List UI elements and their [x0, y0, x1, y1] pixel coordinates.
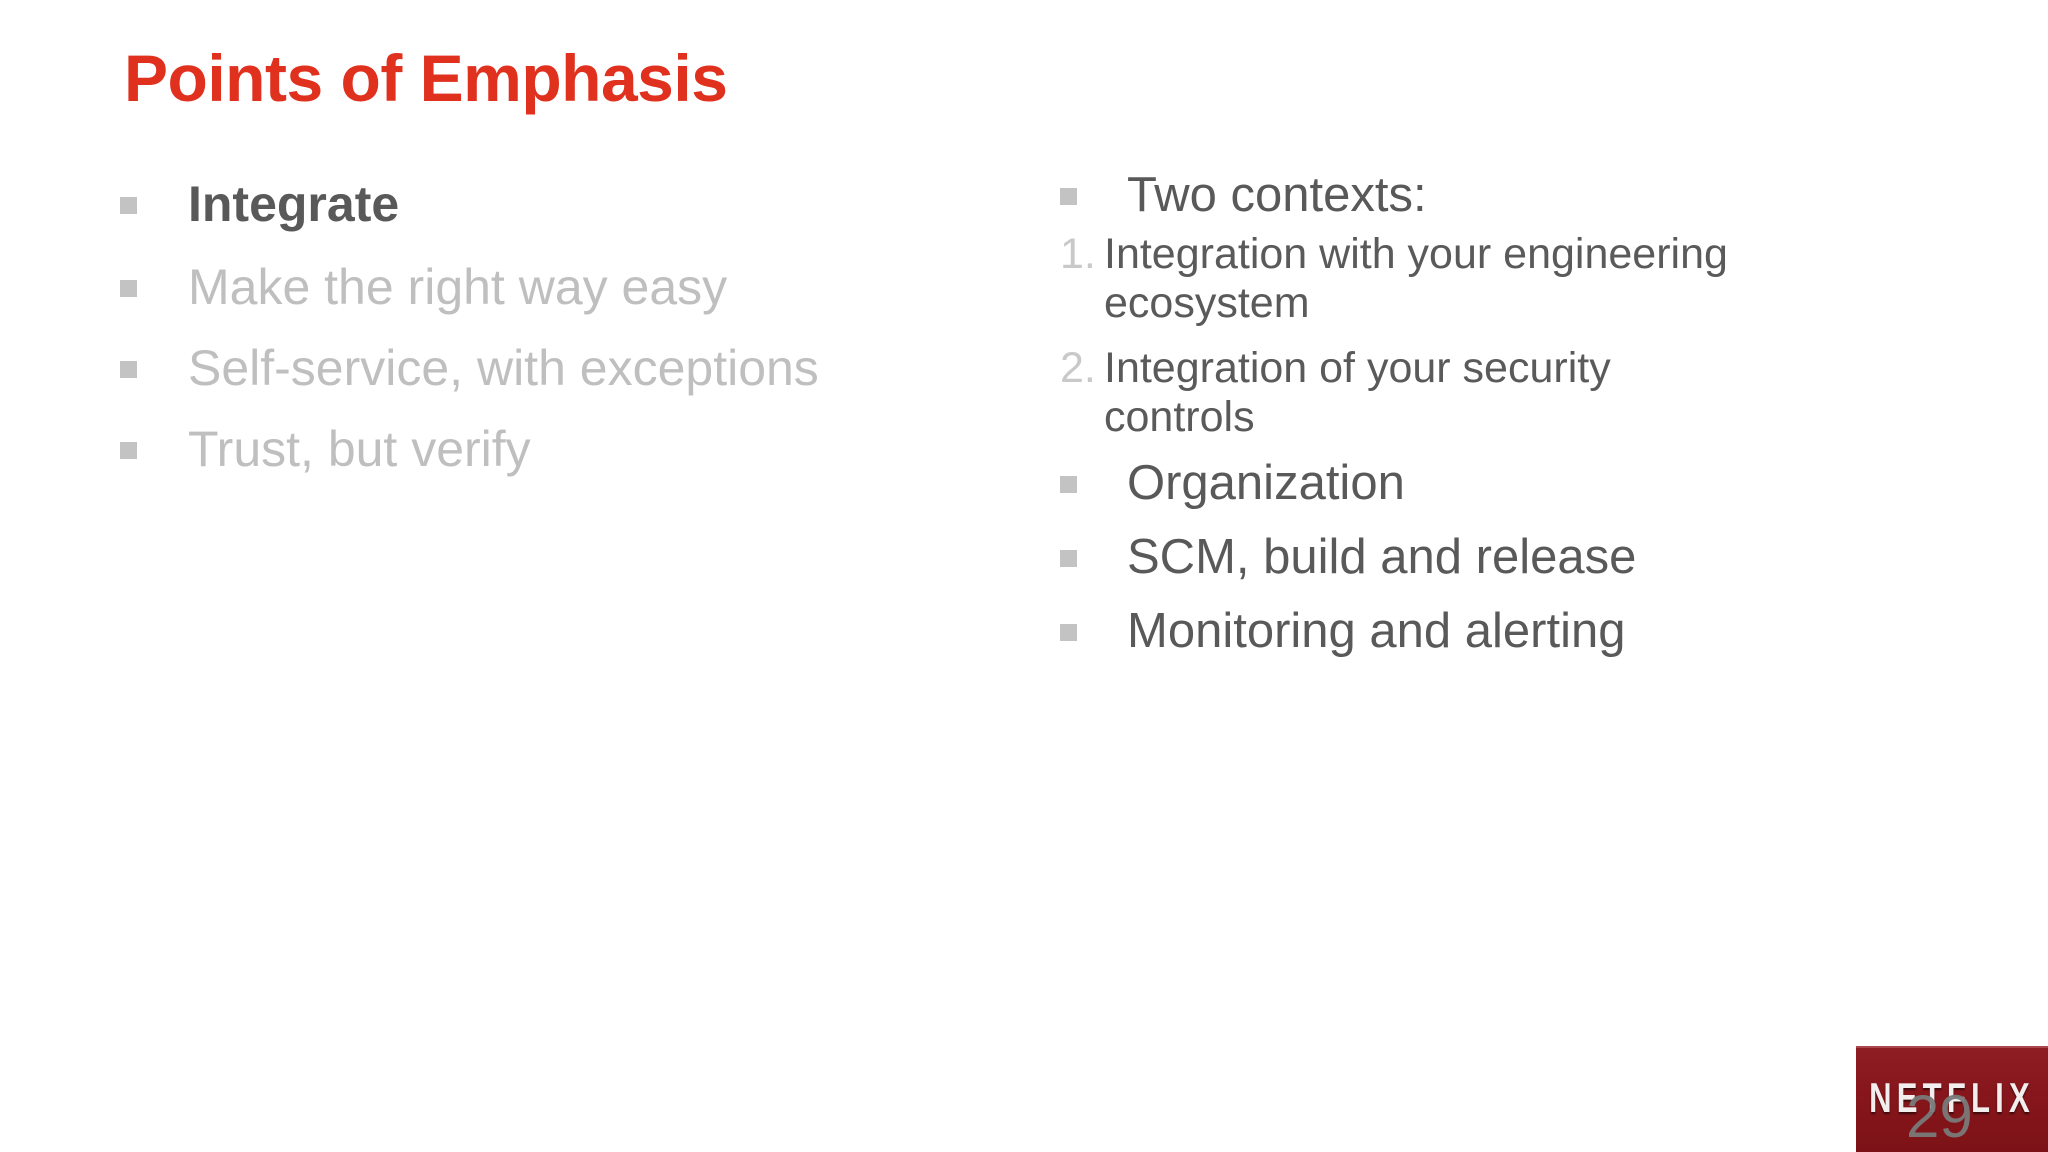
square-bullet-icon — [120, 442, 137, 459]
list-item: 2. Integration of your security controls — [1060, 344, 1980, 442]
list-number-2: 2. — [1060, 344, 1104, 393]
bullet-label-two-contexts: Two contexts: — [1127, 168, 1980, 224]
list-item: Make the right way easy — [120, 259, 980, 316]
bullet-label-scm-build-and-release: SCM, build and release — [1127, 530, 1980, 586]
bullet-label-self-service-with-exceptions: Self-service, with exceptions — [188, 340, 980, 397]
page-number: 29 — [1906, 1082, 1973, 1151]
list-item: Self-service, with exceptions — [120, 340, 980, 397]
list-item: Integrate — [120, 176, 980, 233]
square-bullet-icon — [1060, 188, 1077, 205]
list-item: Monitoring and alerting — [1060, 604, 1980, 660]
numbered-sub-list: 1. Integration with your engineering eco… — [1060, 230, 1980, 442]
square-bullet-icon — [120, 280, 137, 297]
right-bullet-column: Two contexts: 1. Integration with your e… — [1060, 168, 1980, 660]
page-title: Points of Emphasis — [124, 40, 727, 116]
sub-label-integration-security-controls: Integration of your security controls — [1104, 344, 1744, 442]
square-bullet-icon — [1060, 550, 1077, 567]
bullet-label-organization: Organization — [1127, 456, 1980, 512]
square-bullet-icon — [120, 197, 137, 214]
list-item: 1. Integration with your engineering eco… — [1060, 230, 1980, 328]
square-bullet-icon — [1060, 476, 1077, 493]
bullet-label-trust-but-verify: Trust, but verify — [188, 421, 980, 478]
list-number-1: 1. — [1060, 230, 1104, 279]
square-bullet-icon — [1060, 624, 1077, 641]
sub-label-integration-engineering-ecosystem: Integration with your engineering ecosys… — [1104, 230, 1744, 328]
list-item: Two contexts: — [1060, 168, 1980, 224]
bullet-label-integrate: Integrate — [188, 176, 980, 233]
list-item: SCM, build and release — [1060, 530, 1980, 586]
square-bullet-icon — [120, 361, 137, 378]
bullet-label-make-right-way-easy: Make the right way easy — [188, 259, 980, 316]
left-bullet-column: Integrate Make the right way easy Self-s… — [120, 176, 980, 502]
slide-canvas: Points of Emphasis Integrate Make the ri… — [0, 0, 2048, 1152]
list-item: Trust, but verify — [120, 421, 980, 478]
bullet-label-monitoring-and-alerting: Monitoring and alerting — [1127, 604, 1980, 660]
list-item: Organization — [1060, 456, 1980, 512]
